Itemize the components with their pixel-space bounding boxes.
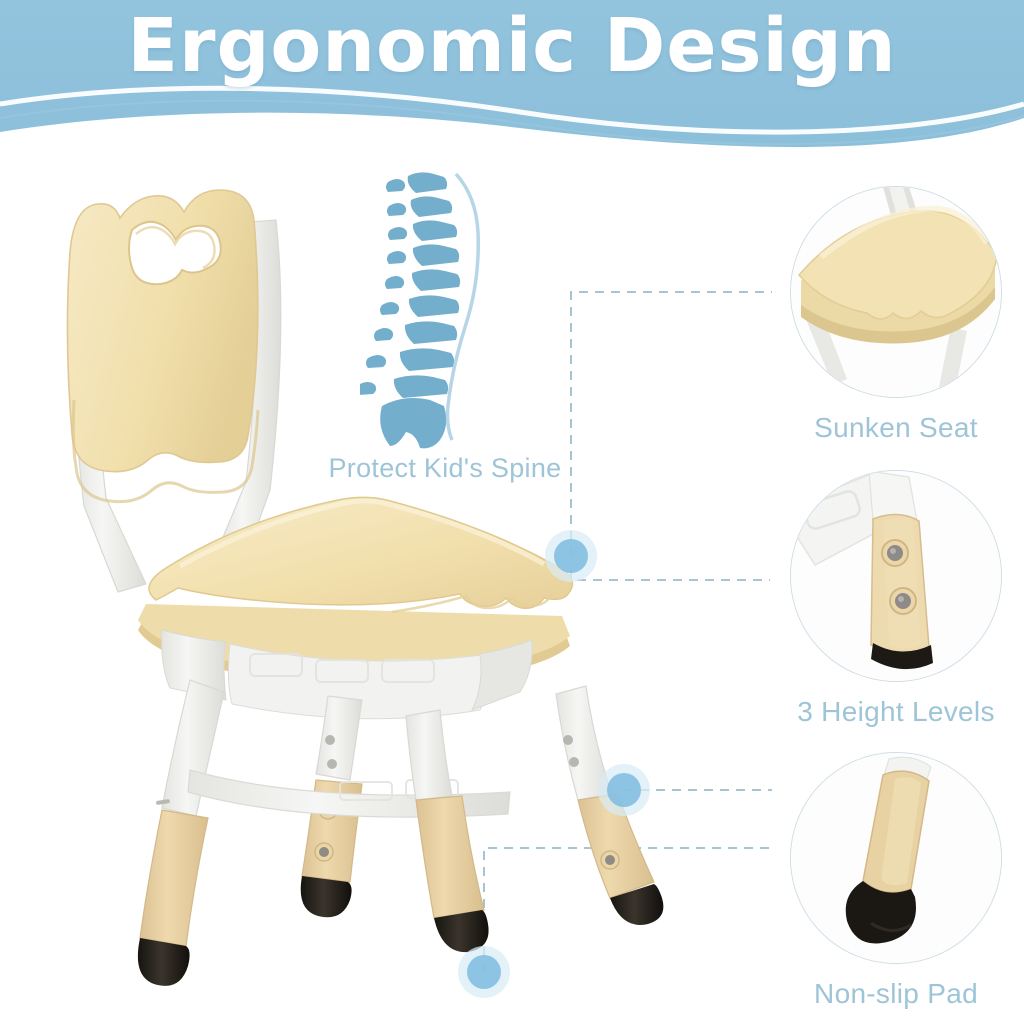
product-chair-illustration: [40, 160, 720, 1020]
callout-image-sunken-seat: [790, 186, 1002, 398]
callout-non-slip-pad[interactable]: Non-slip Pad: [766, 752, 1024, 1010]
callout-label-sunken-seat: Sunken Seat: [766, 412, 1024, 444]
hotspot-core: [607, 773, 641, 807]
hotspot-sunken-seat[interactable]: [545, 530, 597, 582]
hotspot-core: [554, 539, 588, 573]
hotspot-non-slip-pad[interactable]: [458, 946, 510, 998]
hotspot-height-levels[interactable]: [598, 764, 650, 816]
chair-leg-front-right: [406, 710, 489, 952]
callout-label-non-slip-pad: Non-slip Pad: [766, 978, 1024, 1010]
header-banner: Ergonomic Design: [0, 0, 1024, 170]
hotspot-core: [467, 955, 501, 989]
infographic-page: Ergonomic Design: [0, 0, 1024, 1024]
callout-sunken-seat[interactable]: Sunken Seat: [766, 186, 1024, 444]
chair-leg-back-left: [138, 680, 224, 986]
callout-height-levels[interactable]: 3 Height Levels: [766, 470, 1024, 728]
chair-graphic: [40, 160, 720, 1020]
page-title: Ergonomic Design: [0, 8, 1024, 86]
callout-image-non-slip-pad: [790, 752, 1002, 964]
callout-label-height-levels: 3 Height Levels: [766, 696, 1024, 728]
callout-image-height-levels: [790, 470, 1002, 682]
chair-backrest: [67, 190, 258, 502]
